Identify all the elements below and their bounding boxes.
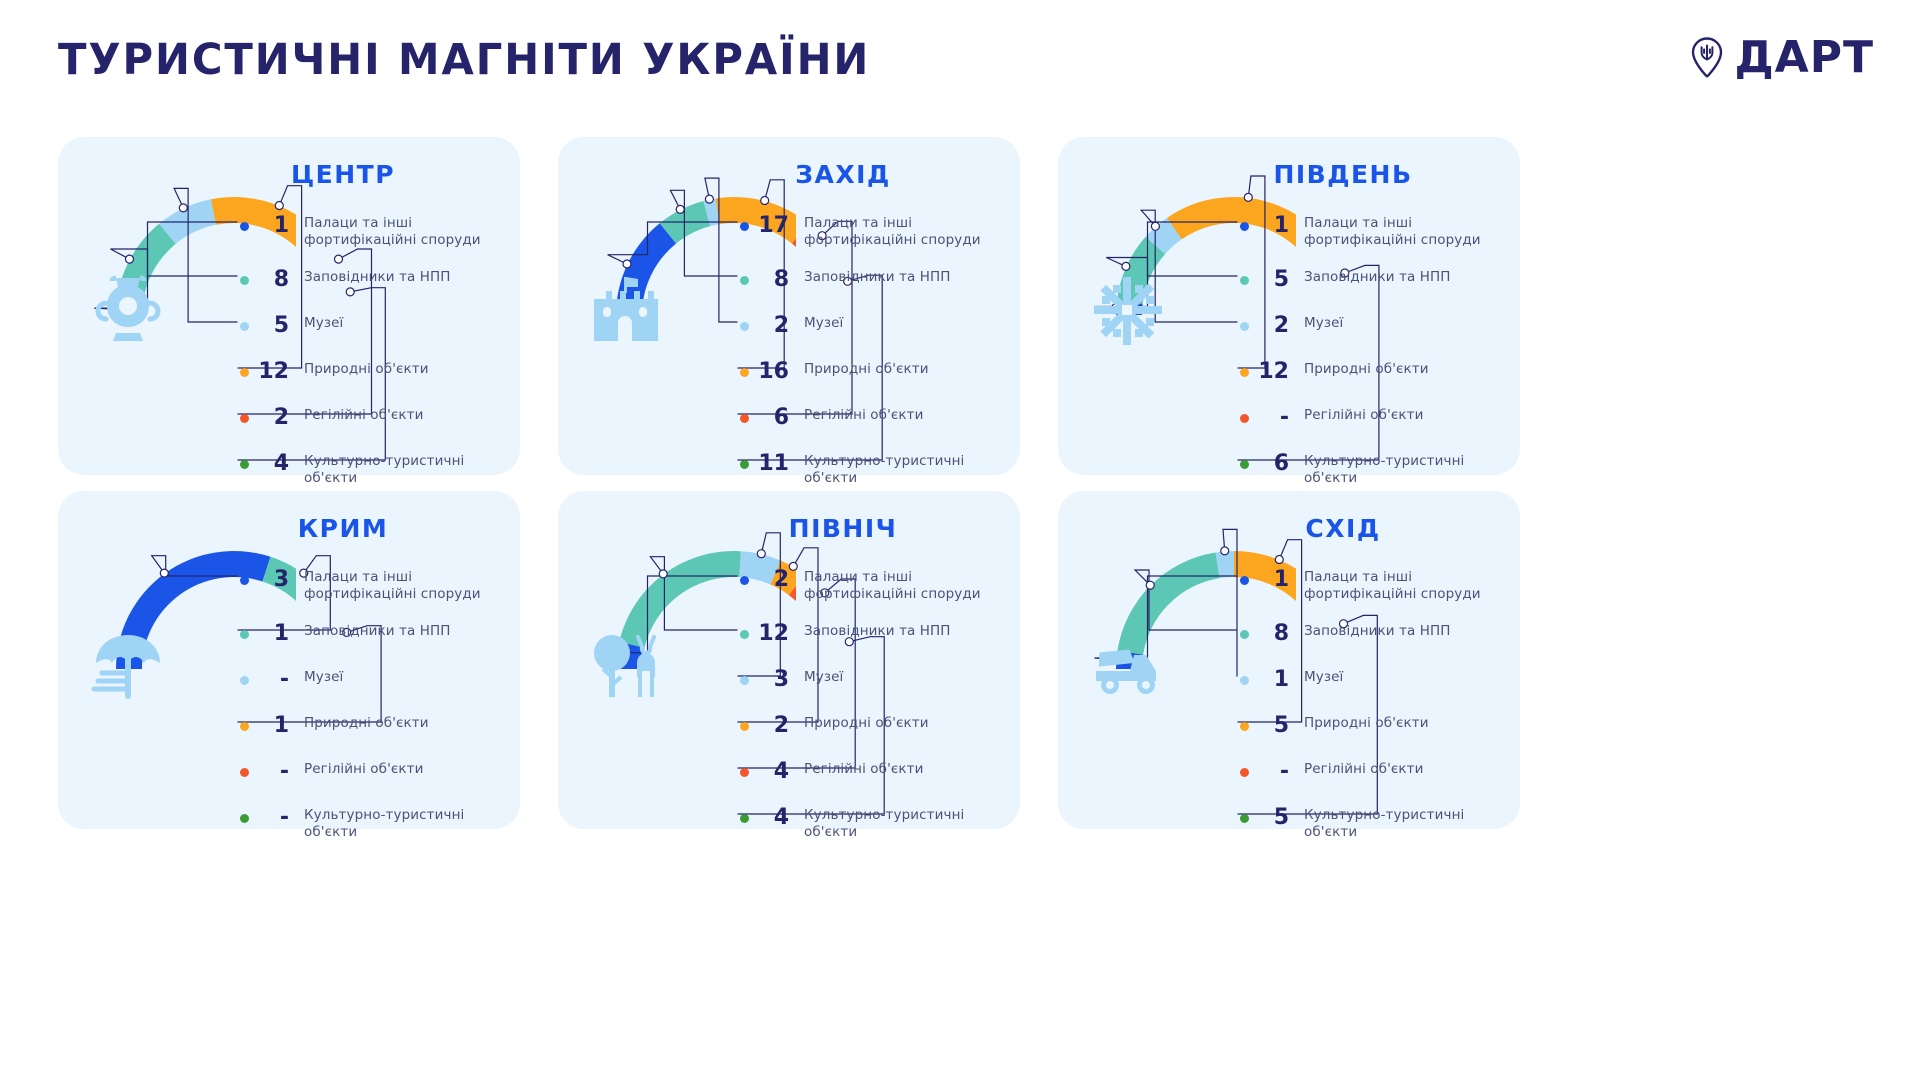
legend-color-dot [240, 276, 249, 285]
legend-value: 5 [1249, 715, 1291, 737]
legend-row[interactable]: 16 Природні об'єкти [740, 361, 1012, 383]
legend-value: 2 [749, 569, 791, 591]
legend-row[interactable]: 2 Музеї [740, 315, 1012, 337]
legend-color-dot [740, 676, 749, 685]
legend-label: Палаци та інші фортифікаційні споруди [304, 569, 512, 603]
legend-color-dot [1240, 630, 1249, 639]
legend-color-dot [740, 460, 749, 469]
legend-row[interactable]: - Регілійні об'єкти [240, 761, 512, 783]
legend-color-dot [1240, 722, 1249, 731]
legend-label: Природні об'єкти [304, 361, 429, 378]
legend-color-dot [1240, 576, 1249, 585]
legend-value: - [1249, 407, 1291, 429]
legend-row[interactable]: 12 Природні об'єкти [240, 361, 512, 383]
legend-label: Палаци та інші фортифікаційні споруди [1304, 215, 1512, 249]
legend-color-dot [240, 676, 249, 685]
legend-label: Музеї [804, 669, 843, 686]
legend-label: Палаци та інші фортифікаційні споруди [1304, 569, 1512, 603]
legend-label: Культурно-туристичні об'єкти [804, 453, 1012, 487]
legend-label: Музеї [304, 315, 343, 332]
region-card: ЗАХІД 17 Палаци та інші фортифікаційні с… [558, 137, 1020, 475]
legend-label: Заповідники та НПП [1304, 269, 1451, 286]
dart-logo: ДАРТ [1690, 36, 1874, 80]
legend-row[interactable]: 3 Музеї [740, 669, 1012, 691]
legend-value: 8 [749, 269, 791, 291]
legend-color-dot [740, 630, 749, 639]
legend-label: Природні об'єкти [304, 715, 429, 732]
legend-row[interactable]: 5 Природні об'єкти [1240, 715, 1512, 737]
legend-color-dot [740, 322, 749, 331]
legend-row[interactable]: 12 Заповідники та НПП [740, 623, 1012, 645]
legend-value: 16 [749, 361, 791, 383]
legend-row[interactable]: 4 Регілійні об'єкти [740, 761, 1012, 783]
legend-row[interactable]: 4 Культурно-туристичні об'єкти [240, 453, 512, 487]
legend-label: Палаци та інші фортифікаційні споруди [804, 569, 1012, 603]
legend-color-dot [740, 814, 749, 823]
legend-value: 8 [249, 269, 291, 291]
legend-label: Культурно-туристичні об'єкти [804, 807, 1012, 841]
legend-value: 5 [1249, 269, 1291, 291]
legend-row[interactable]: 5 Музеї [240, 315, 512, 337]
legend-row[interactable]: 17 Палаци та інші фортифікаційні споруди [740, 215, 1012, 249]
legend-value: 3 [749, 669, 791, 691]
region-card: ПІВНІЧ 2 Палаци та інші фортифікаційні с… [558, 491, 1020, 829]
legend-value: 4 [249, 453, 291, 475]
legend-value: 4 [749, 761, 791, 783]
legend-label: Регілійні об'єкти [1304, 761, 1424, 778]
legend-label: Природні об'єкти [1304, 715, 1429, 732]
legend-label: Заповідники та НПП [304, 623, 451, 640]
legend-color-dot [740, 276, 749, 285]
legend-value: - [249, 807, 291, 829]
legend-color-dot [1240, 368, 1249, 377]
legend-color-dot [740, 768, 749, 777]
legend-row[interactable]: 2 Регілійні об'єкти [240, 407, 512, 429]
legend-color-dot [240, 368, 249, 377]
legend-row[interactable]: 1 Палаци та інші фортифікаційні споруди [1240, 569, 1512, 603]
legend-color-dot [1240, 814, 1249, 823]
legend-color-dot [740, 722, 749, 731]
legend-value: 1 [1249, 669, 1291, 691]
legend-label: Заповідники та НПП [1304, 623, 1451, 640]
region-card: ЦЕНТР 1 Палаци та інші фортифікаційні сп… [58, 137, 520, 475]
legend-color-dot [240, 460, 249, 469]
legend-color-dot [240, 814, 249, 823]
legend-color-dot [740, 222, 749, 231]
legend-label: Заповідники та НПП [804, 623, 951, 640]
legend-row[interactable]: - Музеї [240, 669, 512, 691]
legend-value: 12 [249, 361, 291, 383]
amphora-vase-icon [90, 273, 166, 349]
legend-label: Культурно-туристичні об'єкти [1304, 453, 1512, 487]
legend-row[interactable]: 1 Заповідники та НПП [240, 623, 512, 645]
legend-label: Регілійні об'єкти [804, 761, 924, 778]
legend-value: 5 [249, 315, 291, 337]
region-card: ПІВДЕНЬ 1 Палаци та інші фортифікаційні … [1058, 137, 1520, 475]
legend-label: Природні об'єкти [804, 715, 929, 732]
legend-label: Регілійні об'єкти [304, 761, 424, 778]
legend-row[interactable]: 6 Регілійні об'єкти [740, 407, 1012, 429]
legend-value: 2 [749, 315, 791, 337]
legend-label: Музеї [1304, 669, 1343, 686]
castle-icon [590, 273, 666, 349]
legend-color-dot [240, 576, 249, 585]
legend-color-dot [1240, 768, 1249, 777]
legend-value: 1 [249, 715, 291, 737]
legend-row[interactable]: 1 Музеї [1240, 669, 1512, 691]
legend-row[interactable]: 6 Культурно-туристичні об'єкти [1240, 453, 1512, 487]
legend-row[interactable]: 8 Заповідники та НПП [1240, 623, 1512, 645]
legend-value: 12 [749, 623, 791, 645]
legend-row[interactable]: 2 Палаци та інші фортифікаційні споруди [740, 569, 1012, 603]
logo-wordmark: ДАРТ [1734, 36, 1874, 80]
legend-value: 5 [1249, 807, 1291, 829]
tree-deer-icon [590, 627, 666, 703]
legend-row[interactable]: 2 Музеї [1240, 315, 1512, 337]
legend-label: Палаци та інші фортифікаційні споруди [804, 215, 1012, 249]
leader-anchor-dot [335, 255, 343, 263]
legend-label: Культурно-туристичні об'єкти [304, 453, 512, 487]
legend-value: 2 [1249, 315, 1291, 337]
legend-row[interactable]: 1 Палаци та інші фортифікаційні споруди [1240, 215, 1512, 249]
legend-color-dot [240, 222, 249, 231]
legend-row[interactable]: 1 Палаци та інші фортифікаційні споруди [240, 215, 512, 249]
legend-row[interactable]: 4 Культурно-туристичні об'єкти [740, 807, 1012, 841]
legend-label: Заповідники та НПП [804, 269, 951, 286]
legend-color-dot [240, 630, 249, 639]
legend-color-dot [1240, 322, 1249, 331]
legend-color-dot [740, 414, 749, 423]
legend-value: 1 [249, 623, 291, 645]
legend-value: 12 [1249, 361, 1291, 383]
legend-label: Регілійні об'єкти [1304, 407, 1424, 424]
snowflake-star-icon [1090, 273, 1166, 349]
legend-color-dot [740, 368, 749, 377]
legend-color-dot [240, 414, 249, 423]
legend-label: Палаци та інші фортифікаційні споруди [304, 215, 512, 249]
legend-value: 1 [1249, 215, 1291, 237]
legend-label: Заповідники та НПП [304, 269, 451, 286]
legend-label: Регілійні об'єкти [304, 407, 424, 424]
legend-row[interactable]: 5 Культурно-туристичні об'єкти [1240, 807, 1512, 841]
legend-value: 6 [1249, 453, 1291, 475]
legend-label: Музеї [804, 315, 843, 332]
legend-color-dot [1240, 276, 1249, 285]
legend-row[interactable]: 8 Заповідники та НПП [240, 269, 512, 291]
legend-row[interactable]: 12 Природні об'єкти [1240, 361, 1512, 383]
legend-color-dot [1240, 460, 1249, 469]
legend-value: - [249, 761, 291, 783]
legend-value: 1 [1249, 569, 1291, 591]
legend-color-dot [1240, 222, 1249, 231]
region-card: КРИМ 3 Палаци та інші фортифікаційні спо… [58, 491, 520, 829]
legend-value: 17 [749, 215, 791, 237]
legend-value: 2 [249, 407, 291, 429]
legend-value: 4 [749, 807, 791, 829]
region-cards-grid: ЦЕНТР 1 Палаци та інші фортифікаційні сп… [0, 120, 1920, 1060]
beach-umbrella-icon [90, 627, 166, 703]
page-title: ТУРИСТИЧНІ МАГНІТИ УКРАЇНИ [58, 35, 870, 85]
legend-value: 8 [1249, 623, 1291, 645]
legend-label: Природні об'єкти [1304, 361, 1429, 378]
dump-truck-icon [1090, 627, 1166, 703]
legend-label: Музеї [304, 669, 343, 686]
legend-value: - [1249, 761, 1291, 783]
legend-row[interactable]: - Культурно-туристичні об'єкти [240, 807, 512, 841]
legend-value: 1 [249, 215, 291, 237]
legend-row[interactable]: 1 Природні об'єкти [240, 715, 512, 737]
legend-color-dot [240, 322, 249, 331]
legend-color-dot [240, 768, 249, 777]
legend-color-dot [1240, 676, 1249, 685]
legend-label: Природні об'єкти [804, 361, 929, 378]
page-header: ТУРИСТИЧНІ МАГНІТИ УКРАЇНИ ДАРТ [0, 0, 1920, 120]
legend-row[interactable]: 11 Культурно-туристичні об'єкти [740, 453, 1012, 487]
legend-row[interactable]: 3 Палаци та інші фортифікаційні споруди [240, 569, 512, 603]
legend-row[interactable]: 8 Заповідники та НПП [740, 269, 1012, 291]
legend-value: - [249, 669, 291, 691]
legend-label: Культурно-туристичні об'єкти [1304, 807, 1512, 841]
legend-color-dot [1240, 414, 1249, 423]
legend-value: 11 [749, 453, 791, 475]
legend-row[interactable]: - Регілійні об'єкти [1240, 407, 1512, 429]
legend-value: 2 [749, 715, 791, 737]
legend-row[interactable]: - Регілійні об'єкти [1240, 761, 1512, 783]
legend-value: 6 [749, 407, 791, 429]
legend-color-dot [240, 722, 249, 731]
region-card: СХІД 1 Палаци та інші фортифікаційні спо… [1058, 491, 1520, 829]
legend-color-dot [740, 576, 749, 585]
legend-label: Музеї [1304, 315, 1343, 332]
legend-label: Культурно-туристичні об'єкти [304, 807, 512, 841]
legend-value: 3 [249, 569, 291, 591]
legend-row[interactable]: 5 Заповідники та НПП [1240, 269, 1512, 291]
map-pin-trident-icon [1690, 37, 1724, 79]
legend-label: Регілійні об'єкти [804, 407, 924, 424]
legend-row[interactable]: 2 Природні об'єкти [740, 715, 1012, 737]
